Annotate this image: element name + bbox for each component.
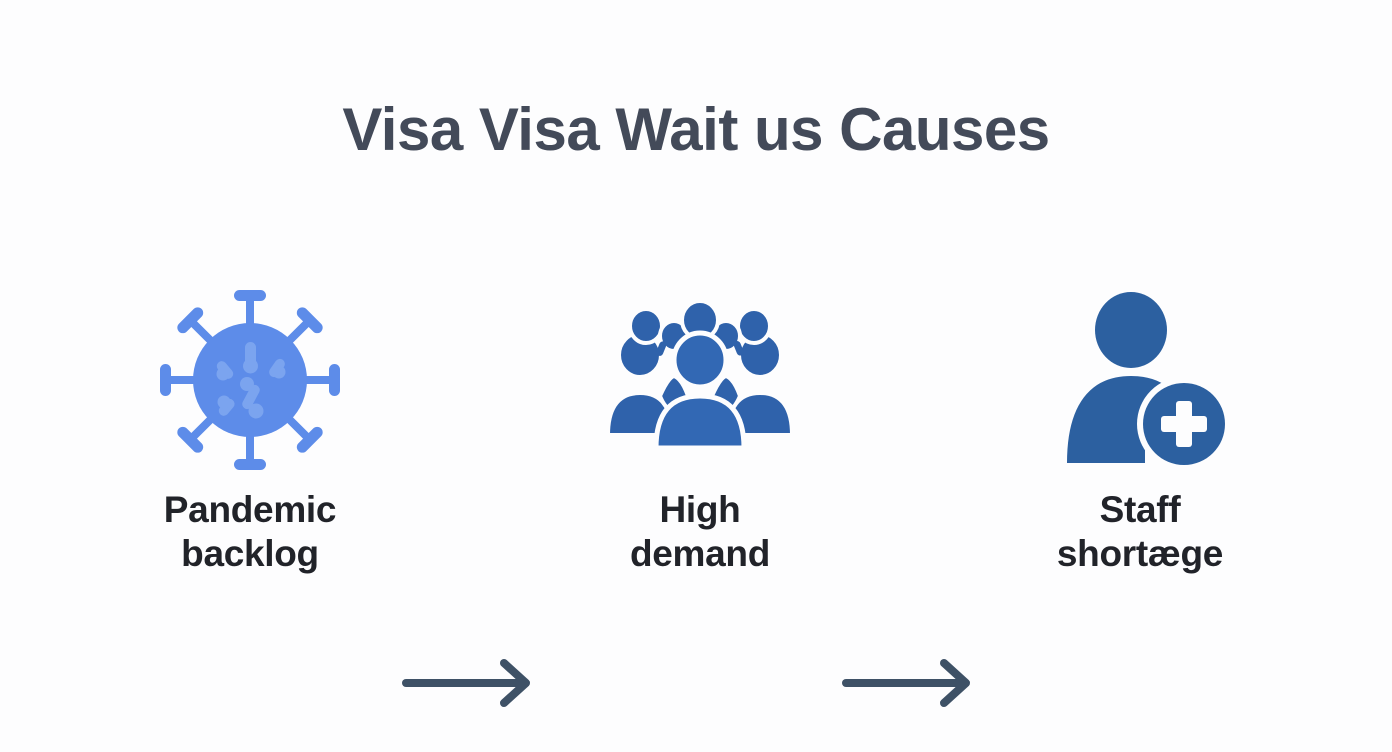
label-line-1: High	[659, 489, 740, 530]
label-line-2: demand	[560, 532, 840, 576]
people-group-icon-wrap	[560, 280, 840, 480]
label-line-1: Staff	[1100, 489, 1181, 530]
flow-step-staff-shortage[interactable]: Staff shortæge	[1000, 280, 1280, 610]
page-title: Visa Visa Wait us Causes	[0, 98, 1392, 161]
flow-arrow-1	[400, 655, 550, 711]
flow-arrow-2	[840, 655, 990, 711]
arrow-right-icon	[840, 655, 990, 711]
arrow-right-icon	[400, 655, 550, 711]
flow-diagram: Pandemic backlog	[0, 280, 1392, 610]
virus-icon-wrap	[110, 280, 390, 480]
infographic-canvas: Visa Visa Wait us Causes	[0, 0, 1392, 752]
label-line-2: backlog	[110, 532, 390, 576]
label-line-1: Pandemic	[164, 489, 336, 530]
flow-step-label-staff-shortage: Staff shortæge	[1000, 488, 1280, 575]
flow-step-label-high-demand: High demand	[560, 488, 840, 575]
people-group-icon	[600, 300, 800, 460]
virus-icon	[150, 280, 350, 480]
flow-step-label-pandemic-backlog: Pandemic backlog	[110, 488, 390, 575]
user-plus-icon-wrap	[1000, 280, 1280, 480]
flow-step-pandemic-backlog[interactable]: Pandemic backlog	[110, 280, 390, 610]
user-plus-icon	[1045, 285, 1235, 475]
label-line-2: shortæge	[1000, 532, 1280, 576]
flow-step-high-demand[interactable]: High demand	[560, 280, 840, 610]
